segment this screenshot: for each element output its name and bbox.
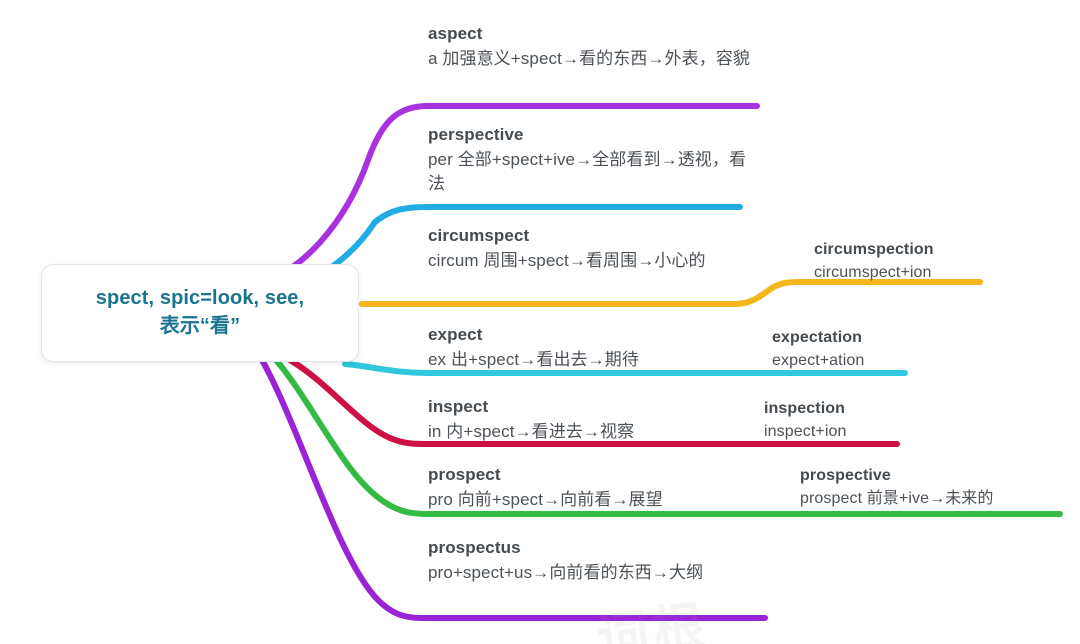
topic-inspect-title: inspect	[428, 394, 758, 420]
topic-expect-title: expect	[428, 322, 758, 348]
topic-inspection-desc: inspect+ion	[764, 421, 1014, 444]
topic-inspect-desc: in 内+spect→看进去→视察	[428, 420, 758, 444]
topic-aspect-title: aspect	[428, 21, 758, 47]
watermark: 词根	[591, 583, 712, 644]
topic-inspect[interactable]: inspect in 内+spect→看进去→视察	[428, 394, 758, 444]
topic-prospective-title: prospective	[800, 464, 1080, 488]
topic-expectation-title: expectation	[772, 326, 1022, 350]
topic-expect[interactable]: expect ex 出+spect→看出去→期待	[428, 322, 758, 372]
root-node[interactable]: spect, spic=look, see, 表示“看”	[41, 264, 359, 362]
topic-prospect[interactable]: prospect pro 向前+spect→向前看→展望	[428, 462, 758, 512]
root-node-text: spect, spic=look, see, 表示“看”	[80, 285, 320, 340]
topic-inspection-title: inspection	[764, 397, 1014, 421]
topic-expect-desc: ex 出+spect→看出去→期待	[428, 348, 758, 372]
topic-perspective-title: perspective	[428, 122, 758, 148]
topic-circumspect-desc: circum 周围+spect→看周围→小心的	[428, 249, 758, 273]
topic-circumspection-desc: circumspect+ion	[814, 262, 1064, 285]
topic-circumspect[interactable]: circumspect circum 周围+spect→看周围→小心的	[428, 223, 758, 273]
topic-expectation-desc: expect+ation	[772, 350, 1022, 373]
topic-circumspect-title: circumspect	[428, 223, 758, 249]
topic-prospectus-desc: pro+spect+us→向前看的东西→大纲	[428, 561, 758, 585]
topic-perspective-desc: per 全部+spect+ive→全部看到→透视，看法	[428, 148, 758, 196]
mindmap-canvas: spect, spic=look, see, 表示“看” aspect a 加强…	[0, 0, 1080, 644]
topic-prospect-desc: pro 向前+spect→向前看→展望	[428, 488, 758, 512]
topic-prospectus[interactable]: prospectus pro+spect+us→向前看的东西→大纲	[428, 535, 758, 585]
topic-prospective-desc: prospect 前景+ive→未来的	[800, 488, 1080, 511]
topic-aspect[interactable]: aspect a 加强意义+spect→看的东西→外表，容貌	[428, 21, 758, 71]
root-line-2: 表示“看”	[160, 315, 241, 337]
topic-aspect-desc: a 加强意义+spect→看的东西→外表，容貌	[428, 47, 758, 71]
topic-circumspection[interactable]: circumspection circumspect+ion	[814, 238, 1064, 285]
topic-prospective[interactable]: prospective prospect 前景+ive→未来的	[800, 464, 1080, 511]
branch-line-circumspect	[362, 282, 980, 304]
topic-prospectus-title: prospectus	[428, 535, 758, 561]
topic-expectation[interactable]: expectation expect+ation	[772, 326, 1022, 373]
topic-inspection[interactable]: inspection inspect+ion	[764, 397, 1014, 444]
root-line-1: spect, spic=look, see,	[96, 287, 304, 309]
topic-prospect-title: prospect	[428, 462, 758, 488]
topic-circumspection-title: circumspection	[814, 238, 1064, 262]
topic-perspective[interactable]: perspective per 全部+spect+ive→全部看到→透视，看法	[428, 122, 758, 196]
